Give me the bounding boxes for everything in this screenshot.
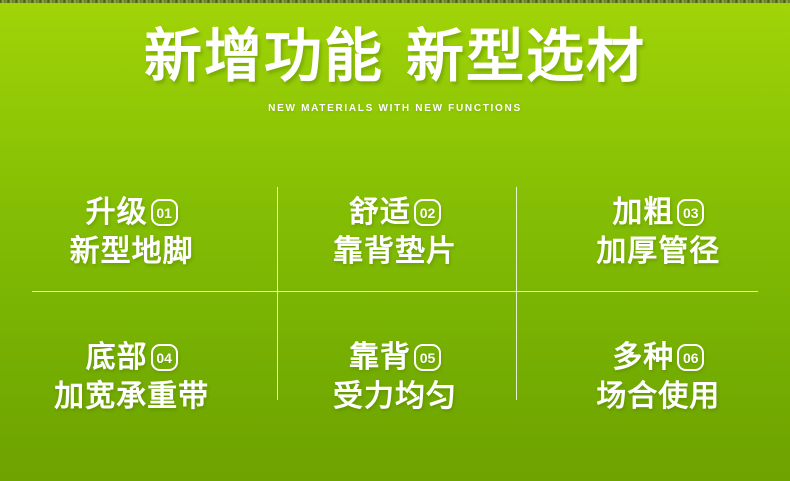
grid-divider-vertical-left (277, 187, 278, 400)
page-title-part-1: 新增功能 (144, 24, 384, 89)
feature-heading-04: 底部 04 (86, 341, 178, 375)
page-subtitle: NEW MATERIALS WITH NEW FUNCTIONS (0, 102, 790, 116)
feature-badge-05: 05 (414, 344, 441, 371)
feature-heading-03: 加粗 03 (612, 196, 704, 230)
feature-grid: 升级 01 新型地脚 舒适 02 靠背垫片 加粗 03 加厚管径 (0, 160, 790, 450)
grid-divider-vertical-right (516, 187, 517, 400)
banner-header: 新增功能新型选材 NEW MATERIALS WITH NEW FUNCTION… (0, 0, 790, 116)
feature-subtitle-03: 加厚管径 (596, 234, 720, 270)
feature-heading-01: 升级 01 (86, 196, 178, 230)
feature-cell-02: 舒适 02 靠背垫片 (263, 160, 526, 305)
feature-badge-04: 04 (151, 344, 178, 371)
feature-title-06: 多种 (612, 341, 674, 375)
feature-heading-02: 舒适 02 (349, 196, 441, 230)
feature-subtitle-06: 场合使用 (596, 379, 720, 415)
feature-subtitle-02: 靠背垫片 (333, 234, 457, 270)
feature-heading-06: 多种 06 (612, 341, 704, 375)
feature-badge-01: 01 (151, 199, 178, 226)
feature-cell-04: 底部 04 加宽承重带 (0, 305, 263, 450)
feature-badge-02: 02 (414, 199, 441, 226)
feature-title-02: 舒适 (349, 196, 411, 230)
page-title: 新增功能新型选材 (0, 26, 790, 88)
feature-title-03: 加粗 (612, 196, 674, 230)
feature-cell-05: 靠背 05 受力均匀 (263, 305, 526, 450)
grid-divider-horizontal (32, 291, 758, 292)
page-title-part-2: 新型选材 (406, 24, 646, 89)
feature-title-01: 升级 (86, 196, 148, 230)
feature-cell-06: 多种 06 场合使用 (527, 305, 790, 450)
feature-title-04: 底部 (86, 341, 148, 375)
feature-row-top: 升级 01 新型地脚 舒适 02 靠背垫片 加粗 03 加厚管径 (0, 160, 790, 305)
feature-subtitle-05: 受力均匀 (333, 379, 457, 415)
feature-title-05: 靠背 (349, 341, 411, 375)
feature-heading-05: 靠背 05 (349, 341, 441, 375)
feature-row-bottom: 底部 04 加宽承重带 靠背 05 受力均匀 多种 06 场合使用 (0, 305, 790, 450)
feature-banner: 新增功能新型选材 NEW MATERIALS WITH NEW FUNCTION… (0, 0, 790, 481)
feature-subtitle-04: 加宽承重带 (54, 379, 209, 415)
feature-subtitle-01: 新型地脚 (70, 234, 194, 270)
feature-badge-03: 03 (677, 199, 704, 226)
feature-cell-03: 加粗 03 加厚管径 (527, 160, 790, 305)
feature-cell-01: 升级 01 新型地脚 (0, 160, 263, 305)
feature-badge-06: 06 (677, 344, 704, 371)
